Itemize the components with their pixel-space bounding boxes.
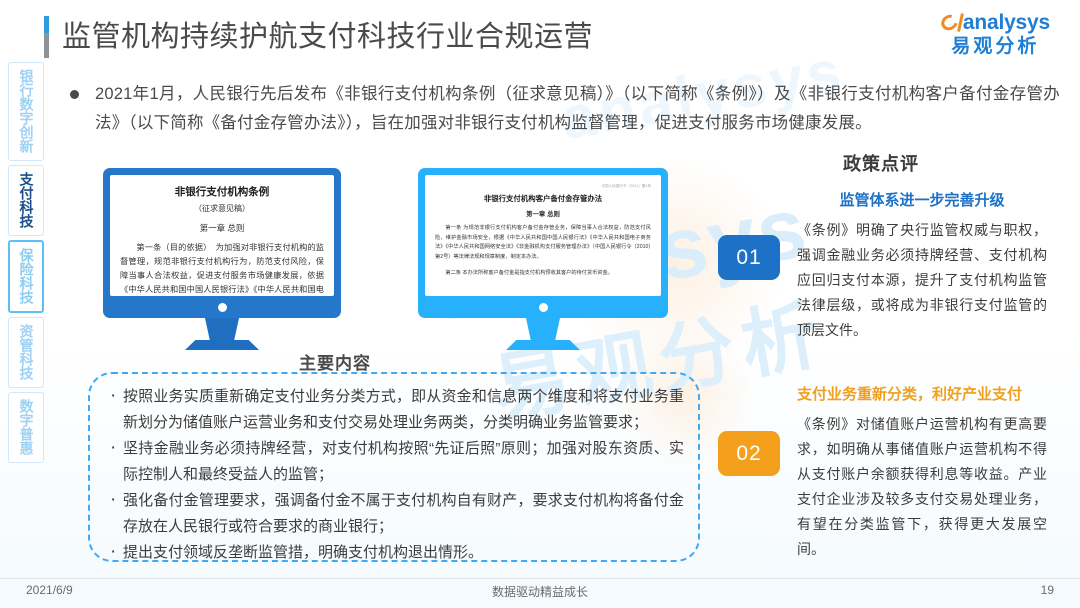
bullet-dot-icon [70, 90, 79, 99]
list-item: 按照业务实质重新确定支付业务分类方式，即从资金和信息两个维度和将支付业务重新划分… [108, 384, 684, 436]
monitor-base [185, 340, 259, 350]
main-content-label: 主要内容 [299, 349, 371, 374]
doc-chapter: 第一章 总则 [120, 222, 324, 234]
doc-header: 中国人民银行令〔2021〕第1号 [435, 184, 651, 189]
main-content-box: 按照业务实质重新确定支付业务分类方式，即从资金和信息两个维度和将支付业务重新划分… [88, 372, 700, 562]
monitor-base [506, 340, 580, 350]
footer-page-number: 19 [1041, 583, 1054, 597]
logo-text-en: analysys [963, 12, 1050, 33]
doc-body: 第一条 为规范非银行支付机构客户备付金存管业务，保障当事人合法权益，防范支付风险… [435, 224, 651, 262]
monitor-neck [205, 318, 239, 340]
monitor-screen: 中国人民银行令〔2021〕第1号 非银行支付机构客户备付金存管办法 第一章 总则… [425, 175, 661, 296]
intro-bullet: 2021年1月，人民银行先后发布《非银行支付机构条例（征求意见稿）》（以下简称《… [70, 80, 1060, 138]
monitor-led-icon [218, 303, 227, 312]
doc-chapter: 第一章 总则 [435, 209, 651, 218]
list-item: 提出支付领域反垄断监管措，明确支付机构退出情形。 [108, 540, 684, 566]
sidebar-item-insurance-tech[interactable]: 保险科技 [8, 240, 44, 313]
commentary-heading: 支付业务重新分类，利好产业支付 [797, 384, 1047, 406]
commentary-body: 《条例》对储值账户运营机构有更高要求，如明确从事储值账户运营机构不得从支付账户余… [797, 412, 1047, 562]
sidebar-item-payment-tech[interactable]: 支付科技 [8, 165, 44, 236]
commentary-body: 《条例》明确了央行监管权威与职权，强调金融业务必须持牌经营、支付机构应回归支付本… [797, 218, 1047, 343]
page-title: 监管机构持续护航支付科技行业合规运营 [44, 16, 593, 58]
commentary-entry-1: 监管体系进一步完善升级 《条例》明确了央行监管权威与职权，强调金融业务必须持牌经… [797, 190, 1047, 343]
title-accent-bar [44, 16, 49, 58]
monitor-neck [526, 318, 560, 340]
slide-canvas: analysys analysys 易观分析 监管机构持续护航支付科技行业合规运… [0, 0, 1080, 608]
footer-divider [0, 578, 1080, 579]
intro-bullet-text: 2021年1月，人民银行先后发布《非银行支付机构条例（征求意见稿）》（以下简称《… [95, 80, 1060, 138]
monitor-frame: 非银行支付机构条例 （征求意见稿） 第一章 总则 第一条（目的依据） 为加强对非… [103, 168, 341, 318]
doc-body: 第二条 本办法所称客户备付金是指支付机构预收其客户的待付货币资金。 [435, 269, 651, 279]
sidebar-item-digital-inclusive[interactable]: 数字普惠 [8, 392, 44, 463]
analysys-mark-icon [941, 12, 962, 33]
status-badge-02: 02 [718, 431, 780, 476]
commentary-title: 政策点评 [843, 150, 919, 176]
list-item: 强化备付金管理要求，强调备付金不属于支付机构自有财产，要求支付机构将备付金存放在… [108, 488, 684, 540]
monitor-frame: 中国人民银行令〔2021〕第1号 非银行支付机构客户备付金存管办法 第一章 总则… [418, 168, 668, 318]
monitor-screen: 非银行支付机构条例 （征求意见稿） 第一章 总则 第一条（目的依据） 为加强对非… [110, 175, 334, 296]
monitor-regulation-draft: 非银行支付机构条例 （征求意见稿） 第一章 总则 第一条（目的依据） 为加强对非… [103, 168, 341, 350]
monitor-led-icon [539, 303, 548, 312]
commentary-entry-2: 支付业务重新分类，利好产业支付 《条例》对储值账户运营机构有更高要求，如明确从事… [797, 384, 1047, 562]
sidebar-item-asset-tech[interactable]: 资管科技 [8, 317, 44, 388]
doc-title: 非银行支付机构条例 [120, 184, 324, 199]
footer-slogan: 数据驱动精益成长 [0, 583, 1080, 600]
brand-logo: analysys 易观分析 [941, 12, 1050, 56]
commentary-heading: 监管体系进一步完善升级 [797, 190, 1047, 212]
status-badge-01: 01 [718, 235, 780, 280]
doc-subtitle: （征求意见稿） [120, 203, 324, 214]
sidebar-item-bank-digital[interactable]: 银行数字创新 [8, 62, 44, 161]
doc-title: 非银行支付机构客户备付金存管办法 [435, 193, 651, 204]
list-item: 坚持金融业务必须持牌经营，对支付机构按照“先证后照”原则；加强对股东资质、实际控… [108, 436, 684, 488]
sidebar: 银行数字创新 支付科技 保险科技 资管科技 数字普惠 [8, 62, 44, 463]
monitor-custody-rules: 中国人民银行令〔2021〕第1号 非银行支付机构客户备付金存管办法 第一章 总则… [418, 168, 668, 350]
page-title-text: 监管机构持续护航支付科技行业合规运营 [62, 23, 593, 52]
doc-body: 第一条（目的依据） 为加强对非银行支付机构的监督管理，规范非银行支付机构行为，防… [120, 241, 324, 296]
logo-text-cn: 易观分析 [941, 37, 1050, 56]
